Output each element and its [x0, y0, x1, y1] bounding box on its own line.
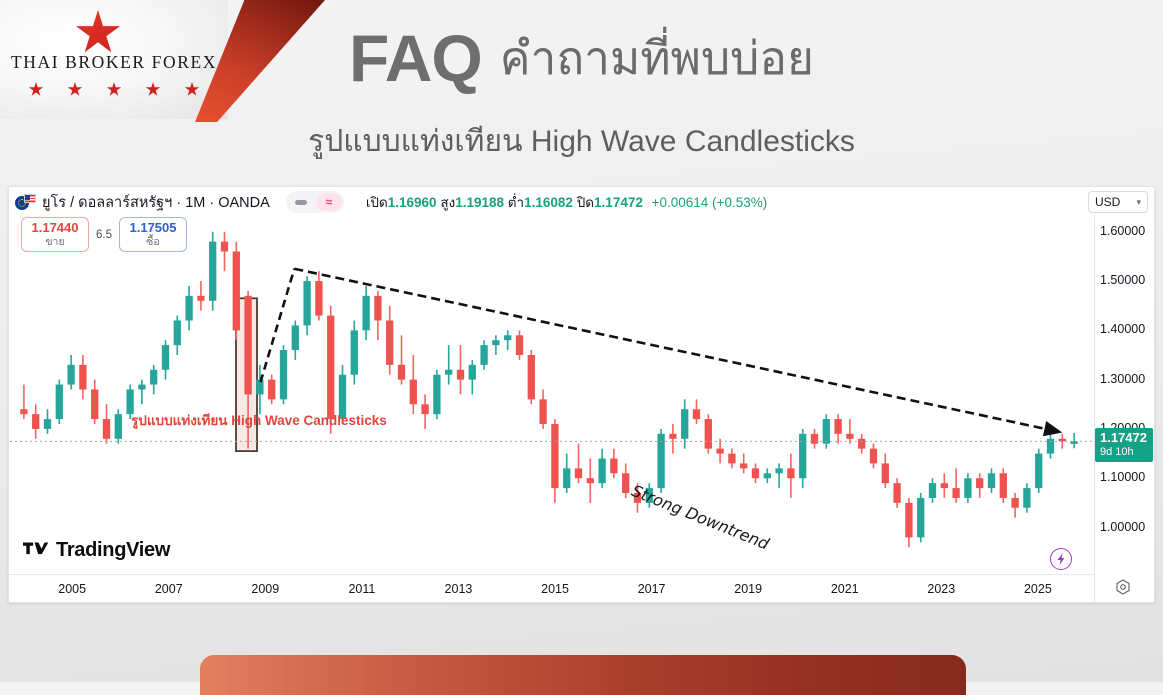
time-axis-tick: 2009: [251, 582, 279, 596]
chart-plot-area[interactable]: [10, 217, 1095, 562]
candle: [929, 483, 936, 498]
buy-badge[interactable]: 1.17505 ซื้อ: [119, 217, 187, 252]
candle: [657, 434, 664, 488]
close-label: ปิด: [577, 195, 594, 210]
candle: [233, 252, 240, 331]
candle: [162, 345, 169, 370]
page-title-thai: คำถามที่พบบ่อย: [500, 32, 814, 84]
sell-label: ขาย: [22, 236, 88, 248]
candle: [516, 335, 523, 355]
candle: [716, 449, 723, 454]
low-label: ต่ำ: [508, 195, 524, 210]
candle: [775, 468, 782, 473]
candle: [351, 330, 358, 374]
candle: [445, 370, 452, 375]
price-axis-tick: 1.30000: [1095, 372, 1155, 386]
lightning-icon[interactable]: [1050, 548, 1072, 570]
brand-name: THAI BROKER FOREX: [0, 52, 228, 73]
candle: [1000, 473, 1007, 498]
time-axis-tick: 2017: [638, 582, 666, 596]
time-axis-tick: 2019: [734, 582, 762, 596]
candle: [492, 340, 499, 345]
candle: [79, 365, 86, 390]
candle: [433, 375, 440, 414]
spread-value: 6.5: [96, 229, 112, 241]
candle: [457, 370, 464, 380]
brand-logo: THAI BROKER FOREX: [0, 0, 228, 119]
candle: [398, 365, 405, 380]
candle: [138, 385, 145, 390]
last-price-badge: 1.174729d 10h: [1095, 428, 1153, 461]
candle: [846, 434, 853, 439]
candle: [669, 434, 676, 439]
candle: [504, 335, 511, 340]
candle: [693, 409, 700, 419]
time-axis-tick: 2011: [348, 582, 375, 596]
last-price-countdown: 9d 10h: [1100, 446, 1149, 459]
high-label: สูง: [440, 195, 455, 210]
star-icon: [146, 82, 161, 97]
candle: [244, 296, 251, 395]
sell-badge[interactable]: 1.17440 ขาย: [21, 217, 89, 252]
chevron-down-icon: ▾: [1136, 197, 1141, 208]
chart-style-toggle-group: ≈: [286, 191, 344, 213]
candle: [740, 463, 747, 468]
currency-select[interactable]: USD ▾: [1088, 191, 1148, 213]
candle: [646, 488, 653, 503]
symbol-title[interactable]: ยูโร / ดอลลาร์สหรัฐฯ · 1M · OANDA: [42, 191, 270, 214]
candle: [362, 296, 369, 331]
leader-line: [260, 269, 294, 382]
star-icon: [75, 10, 121, 56]
bottom-ribbon-decoration: [200, 655, 966, 695]
candle: [32, 414, 39, 429]
candle: [327, 316, 334, 420]
candle: [799, 434, 806, 478]
open-label: เปิด: [366, 195, 388, 210]
tradingview-wordmark: TradingView: [56, 539, 170, 562]
time-axis-tick: 2023: [927, 582, 955, 596]
candle: [56, 385, 63, 420]
candle: [303, 281, 310, 325]
candle: [893, 483, 900, 503]
candle: [752, 468, 759, 478]
close-value: 1.17472: [594, 195, 643, 210]
candle: [905, 503, 912, 538]
time-axis-tick: 2021: [831, 582, 859, 596]
trendline: [294, 269, 1057, 432]
candle: [410, 380, 417, 405]
candle: [728, 454, 735, 464]
candle: [764, 473, 771, 478]
change-value: +0.00614 (+0.53%): [652, 195, 768, 210]
candlestick-series: [10, 217, 1095, 562]
tradingview-chart-panel: ยูโร / ดอลลาร์สหรัฐฯ · 1M · OANDA ≈ เปิด…: [8, 186, 1155, 603]
candle: [339, 375, 346, 419]
candle: [598, 459, 605, 484]
candle: [823, 419, 830, 444]
quote-badges: 1.17440 ขาย 6.5 1.17505 ซื้อ: [21, 217, 187, 252]
price-axis-tick: 1.10000: [1095, 470, 1155, 484]
star-icon: [68, 82, 83, 97]
candle: [421, 404, 428, 414]
candle: [115, 414, 122, 439]
candle: [221, 242, 228, 252]
candle: [1023, 488, 1030, 508]
candle: [882, 463, 889, 483]
price-axis-tick: 1.40000: [1095, 322, 1155, 336]
candle: [988, 473, 995, 488]
star-icon: [185, 82, 200, 97]
candle: [575, 468, 582, 478]
candle: [91, 390, 98, 420]
candle: [1059, 439, 1066, 441]
candle: [834, 419, 841, 434]
tradingview-logo: TradingView: [23, 539, 170, 562]
wave-toggle[interactable]: ≈: [316, 193, 342, 211]
sell-price: 1.17440: [22, 221, 88, 236]
open-value: 1.16960: [388, 195, 437, 210]
line-toggle[interactable]: [288, 193, 314, 211]
crosshair-target-icon[interactable]: [1114, 578, 1132, 596]
ohlc-readout: เปิด1.16960 สูง1.19188 ต่ำ1.16082 ปิด1.1…: [366, 191, 767, 213]
candle: [811, 434, 818, 444]
candle: [268, 380, 275, 400]
candle: [964, 478, 971, 498]
candle: [858, 439, 865, 449]
page-title-faq: FAQ: [349, 21, 482, 95]
candle: [44, 419, 51, 429]
high-value: 1.19188: [455, 195, 504, 210]
star-icon: [107, 82, 122, 97]
chart-toolbar: ยูโร / ดอลลาร์สหรัฐฯ · 1M · OANDA ≈ เปิด…: [9, 187, 1154, 217]
candle: [622, 473, 629, 493]
currency-select-value: USD: [1095, 195, 1120, 209]
candle: [292, 325, 299, 350]
candle: [563, 468, 570, 488]
candle: [587, 478, 594, 483]
price-axis-tick: 1.50000: [1095, 273, 1155, 287]
tradingview-mark-icon: [23, 542, 49, 559]
price-axis[interactable]: 1.600001.500001.400001.300001.200001.100…: [1094, 217, 1154, 602]
star-icon: [29, 82, 44, 97]
candle: [209, 242, 216, 301]
candle: [150, 370, 157, 385]
candle: [870, 449, 877, 464]
candle: [67, 365, 74, 385]
candle: [787, 468, 794, 478]
candle: [528, 355, 535, 399]
time-axis-tick: 2013: [445, 582, 473, 596]
candle: [941, 483, 948, 488]
candle: [469, 365, 476, 380]
candle: [185, 296, 192, 321]
price-axis-tick: 1.00000: [1095, 520, 1155, 534]
candle: [952, 488, 959, 498]
time-axis-tick: 2025: [1024, 582, 1052, 596]
candle: [681, 409, 688, 439]
time-axis-tick: 2015: [541, 582, 569, 596]
candle: [103, 419, 110, 439]
candle: [197, 296, 204, 301]
candle: [315, 281, 322, 316]
time-axis-tick: 2007: [155, 582, 183, 596]
candle: [1011, 498, 1018, 508]
time-axis[interactable]: 2005200720092011201320152017201920212023…: [9, 574, 1095, 602]
time-axis-tick: 2005: [58, 582, 86, 596]
buy-price: 1.17505: [120, 221, 186, 236]
candle: [1035, 454, 1042, 489]
candle: [917, 498, 924, 537]
rating-stars: [0, 82, 228, 97]
candle: [20, 409, 27, 414]
candle: [280, 350, 287, 399]
candle: [976, 478, 983, 488]
buy-label: ซื้อ: [120, 236, 186, 248]
candle: [610, 459, 617, 474]
page-subtitle: รูปแบบแท่งเทียน High Wave Candlesticks: [0, 118, 1163, 165]
candle: [126, 390, 133, 415]
currency-pair-flag-icon: [15, 194, 36, 210]
candle: [174, 321, 181, 346]
candle: [551, 424, 558, 488]
candle: [634, 493, 641, 503]
low-value: 1.16082: [524, 195, 573, 210]
candle: [539, 399, 546, 424]
candle: [705, 419, 712, 449]
candle: [374, 296, 381, 321]
last-price-value: 1.17472: [1100, 430, 1149, 445]
page-header: THAI BROKER FOREX FAQคำถามที่พบบ่อย รูปแ…: [0, 0, 1163, 180]
candle: [480, 345, 487, 365]
price-axis-tick: 1.60000: [1095, 224, 1155, 238]
candle: [386, 321, 393, 365]
